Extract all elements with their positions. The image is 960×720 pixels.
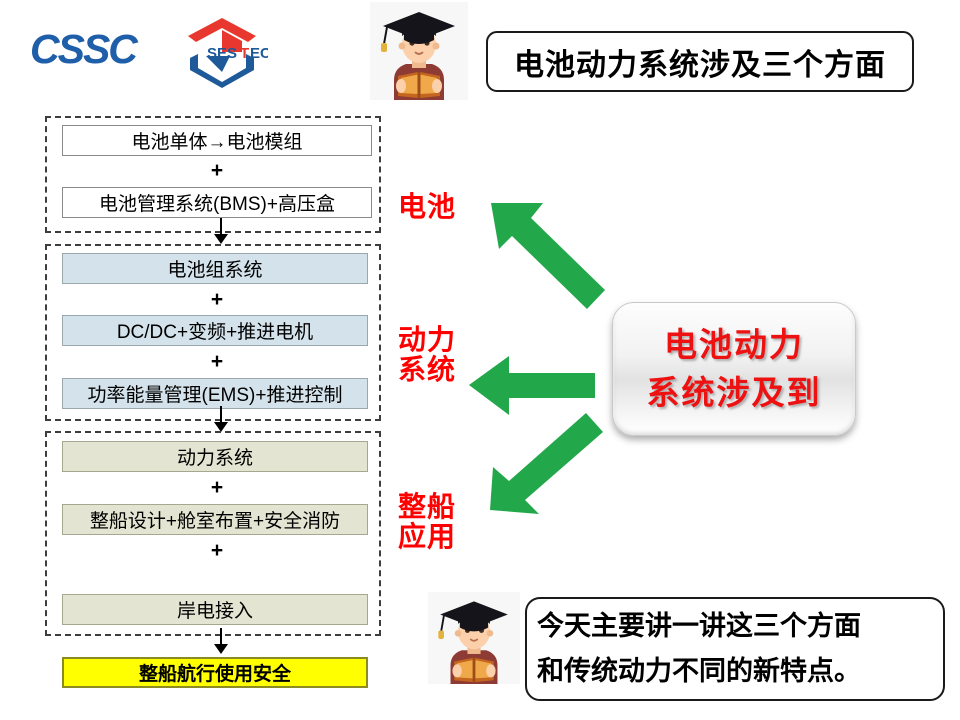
flow-node-bms[interactable]: 电池管理系统(BMS)+高压盒: [62, 187, 372, 218]
bottom-note-line-1: 今天主要讲一讲这三个方面: [537, 604, 861, 649]
flow-plus-2: +: [62, 290, 372, 310]
bottom-note-box: 今天主要讲一讲这三个方面 和传统动力不同的新特点。: [525, 597, 945, 701]
flow-node-dcdc-vfd-motor[interactable]: DC/DC+变频+推进电机: [62, 315, 368, 346]
flow-plus-5: +: [62, 541, 372, 561]
flow-plus-4: +: [62, 478, 372, 498]
sestech-logo: SES T ECH: [176, 12, 268, 88]
arrow-down-left: [490, 413, 603, 514]
flow-node-ems-propulsion-control[interactable]: 功率能量管理(EMS)+推进控制: [62, 378, 368, 409]
callout-line-1: 电池动力: [664, 321, 804, 369]
cssc-logo: CSSC: [30, 26, 170, 72]
flow-connector-2: [214, 406, 228, 432]
flow-node-shore-power[interactable]: 岸电接入: [62, 594, 368, 625]
flow-node-battery-pack-system[interactable]: 电池组系统: [62, 253, 368, 284]
callout-box: 电池动力 系统涉及到: [612, 302, 856, 436]
flow-label-power-system: 动力 系统: [398, 325, 456, 385]
svg-text:ECH: ECH: [250, 45, 268, 62]
slide-title-box: 电池动力系统涉及三个方面: [486, 31, 914, 92]
flow-connector-3: [214, 628, 228, 654]
bottom-note-line-2: 和传统动力不同的新特点。: [537, 649, 861, 694]
flow-node-ship-design[interactable]: 整船设计+舱室布置+安全消防: [62, 504, 368, 535]
svg-text:T: T: [240, 45, 249, 62]
arrow-left: [469, 356, 595, 415]
slide-canvas: CSSC SES T ECH: [0, 0, 960, 720]
flow-connector-1: [214, 218, 228, 244]
flow-label-battery: 电池: [398, 192, 456, 222]
page-title: 电池动力系统涉及三个方面: [514, 40, 886, 84]
callout-line-2: 系统涉及到: [647, 369, 822, 417]
flow-node-power-system[interactable]: 动力系统: [62, 441, 368, 472]
student-avatar-top: [370, 2, 468, 100]
flow-node-cell-to-module[interactable]: 电池单体→电池模组: [62, 125, 372, 156]
flow-label-ship-application: 整船 应用: [398, 492, 456, 552]
flow-node-result-safety[interactable]: 整船航行使用安全: [62, 657, 368, 688]
arrow-up-left: [491, 203, 605, 309]
flow-plus-3: +: [62, 352, 372, 372]
student-avatar-bottom: [428, 592, 520, 684]
svg-text:SES: SES: [207, 45, 237, 62]
cssc-logo-text: CSSC: [30, 26, 170, 72]
flow-plus-1: +: [62, 161, 372, 181]
